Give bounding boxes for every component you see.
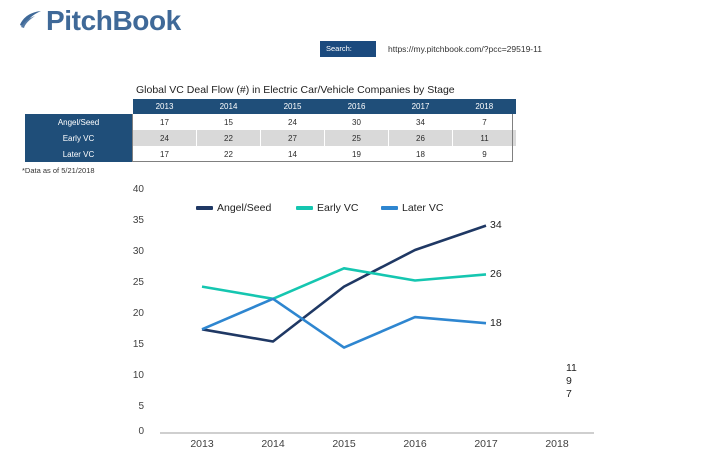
cell-angel-seed-2015: 24	[261, 114, 325, 130]
data-label-later-vc-2017: 18	[490, 317, 502, 329]
brand-name: PitchBook	[46, 6, 181, 36]
table-header-row: 2013 2014 2015 2016 2017 2018	[25, 99, 516, 114]
y-tick-0: 0	[122, 426, 144, 437]
cell-angel-seed-2018: 7	[453, 114, 517, 130]
data-label-angel-seed-2018: 7	[566, 388, 572, 400]
row-label-later-vc: Later VC	[25, 146, 133, 162]
legend-item-angel-seed[interactable]: Angel/Seed	[196, 202, 271, 214]
cell-angel-seed-2016: 30	[325, 114, 389, 130]
y-tick-20: 20	[122, 308, 144, 319]
x-tick-2018: 2018	[527, 438, 587, 450]
cell-early-vc-2014: 22	[197, 130, 261, 146]
legend-swatch-angel-seed	[196, 206, 213, 210]
page-header: PitchBook	[0, 0, 703, 46]
cell-angel-seed-2017: 34	[389, 114, 453, 130]
legend-swatch-later-vc	[381, 206, 398, 210]
search-bar[interactable]: Search: https://my.pitchbook.com/?pcc=29…	[320, 41, 542, 57]
row-label-early-vc: Early VC	[25, 130, 133, 146]
y-tick-40: 40	[122, 184, 144, 195]
data-label-early-vc-2017: 26	[490, 268, 502, 280]
search-label: Search:	[320, 41, 376, 57]
cell-later-vc-2018: 9	[453, 146, 517, 162]
column-header-2013: 2013	[133, 99, 197, 114]
search-input[interactable]: https://my.pitchbook.com/?pcc=29519-11	[376, 41, 542, 57]
legend-swatch-early-vc	[296, 206, 313, 210]
header-corner-cell	[25, 99, 133, 114]
series-line-early-vc	[202, 268, 486, 299]
cell-early-vc-2013: 24	[133, 130, 197, 146]
y-tick-30: 30	[122, 246, 144, 257]
cell-angel-seed-2014: 15	[197, 114, 261, 130]
cell-early-vc-2016: 25	[325, 130, 389, 146]
cell-later-vc-2017: 18	[389, 146, 453, 162]
legend-label-early-vc: Early VC	[317, 202, 358, 214]
column-header-2014: 2014	[197, 99, 261, 114]
data-label-early-vc-2018: 11	[566, 362, 577, 374]
row-label-angel-seed: Angel/Seed	[25, 114, 133, 130]
x-tick-2013: 2013	[172, 438, 232, 450]
column-header-2017: 2017	[389, 99, 453, 114]
y-tick-15: 15	[122, 339, 144, 350]
table-row: Early VC 24 22 27 25 26 11	[25, 130, 516, 146]
y-tick-10: 10	[122, 370, 144, 381]
cell-early-vc-2018: 11	[453, 130, 517, 146]
y-tick-25: 25	[122, 277, 144, 288]
table-title: Global VC Deal Flow (#) in Electric Car/…	[136, 84, 455, 96]
x-tick-2017: 2017	[456, 438, 516, 450]
cell-early-vc-2017: 26	[389, 130, 453, 146]
y-tick-5: 5	[122, 401, 144, 412]
cell-early-vc-2015: 27	[261, 130, 325, 146]
cell-later-vc-2014: 22	[197, 146, 261, 162]
legend-label-later-vc: Later VC	[402, 202, 443, 214]
brand-logo: PitchBook	[18, 6, 181, 36]
legend-item-later-vc[interactable]: Later VC	[381, 202, 443, 214]
column-header-2015: 2015	[261, 99, 325, 114]
x-tick-2015: 2015	[314, 438, 374, 450]
series-line-later-vc	[202, 299, 486, 348]
column-header-2016: 2016	[325, 99, 389, 114]
table-row: Angel/Seed 17 15 24 30 34 7	[25, 114, 516, 130]
cell-later-vc-2013: 17	[133, 146, 197, 162]
x-tick-2016: 2016	[385, 438, 445, 450]
cell-later-vc-2015: 14	[261, 146, 325, 162]
cell-later-vc-2016: 19	[325, 146, 389, 162]
column-header-2018: 2018	[453, 99, 517, 114]
data-label-angel-seed-2017: 34	[490, 219, 502, 231]
legend-label-angel-seed: Angel/Seed	[217, 202, 271, 214]
table-row: Later VC 17 22 14 19 18 9	[25, 146, 516, 162]
y-tick-35: 35	[122, 215, 144, 226]
x-tick-2014: 2014	[243, 438, 303, 450]
data-label-later-vc-2018: 9	[566, 375, 572, 387]
series-line-angel-seed	[202, 226, 486, 342]
cell-angel-seed-2013: 17	[133, 114, 197, 130]
pitchbook-swoosh-icon	[18, 8, 44, 34]
table-footnote: *Data as of 5/21/2018	[22, 166, 95, 175]
legend-item-early-vc[interactable]: Early VC	[296, 202, 358, 214]
chart-plot-area	[0, 0, 703, 470]
deal-flow-table: 2013 2014 2015 2016 2017 2018 Angel/Seed…	[25, 99, 516, 162]
